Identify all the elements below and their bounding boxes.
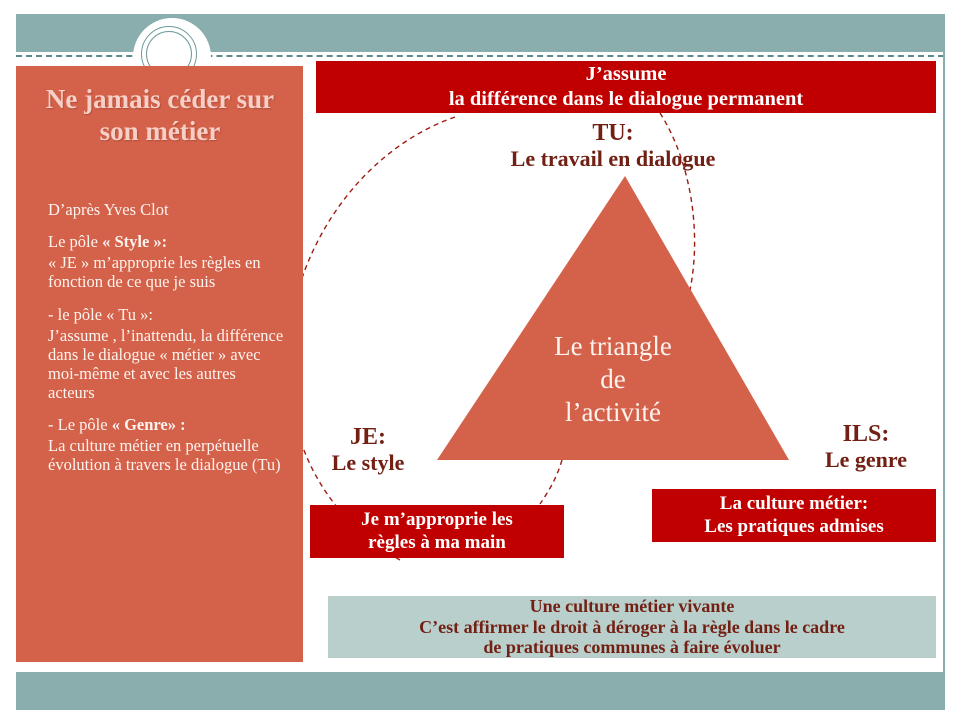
pole-style-heading-bold: « Style »: <box>102 232 167 251</box>
banner-assume-line2: la différence dans le dialogue permanent <box>449 87 803 112</box>
callout-ils-line1: La culture métier: <box>704 493 883 516</box>
callout-culture-line3: de pratiques communes à faire évoluer <box>419 637 845 658</box>
triangle-label-line3: l’activité <box>478 396 748 429</box>
pole-label-tu-title: TU: <box>478 121 748 147</box>
pole-label-tu-subtitle: Le travail en dialogue <box>478 147 748 171</box>
callout-ils-line2: Les pratiques admises <box>704 516 883 539</box>
banner-assume: J’assume la différence dans le dialogue … <box>316 61 936 113</box>
pole-label-ils: ILS: Le genre <box>796 422 936 472</box>
pole-genre-heading-plain: - Le pôle <box>48 415 112 434</box>
left-panel-body: D’après Yves Clot Le pôle « Style »: « J… <box>48 200 284 488</box>
pole-tu-heading: - le pôle « Tu »: <box>48 305 284 324</box>
callout-culture-line1: Une culture métier vivante <box>419 596 845 617</box>
right-vertical-rule <box>943 14 945 710</box>
pole-tu-body: J’assume , l’inattendu, la différence da… <box>48 326 284 403</box>
pole-label-tu: TU: Le travail en dialogue <box>478 121 748 171</box>
activity-triangle-label: Le triangle de l’activité <box>478 330 748 430</box>
callout-ils: La culture métier: Les pratiques admises <box>652 489 936 542</box>
footer-band <box>16 672 944 710</box>
pole-label-je-title: JE: <box>300 425 436 451</box>
pole-label-je: JE: Le style <box>300 425 436 475</box>
source-line: D’après Yves Clot <box>48 200 284 219</box>
pole-style-heading-plain: Le pôle <box>48 232 102 251</box>
pole-genre-heading: - Le pôle « Genre» : <box>48 415 284 434</box>
pole-genre-heading-bold: « Genre» : <box>112 415 186 434</box>
left-panel: Ne jamais céder sur son métier D’après Y… <box>16 66 303 662</box>
triangle-label-line1: Le triangle <box>478 330 748 363</box>
callout-je: Je m’approprie les règles à ma main <box>310 505 564 558</box>
pole-genre-body: La culture métier en perpétuelle évoluti… <box>48 436 284 474</box>
page-title: Ne jamais céder sur son métier <box>44 84 276 148</box>
pole-label-je-subtitle: Le style <box>300 451 436 475</box>
pole-label-ils-subtitle: Le genre <box>796 448 936 472</box>
banner-assume-line1: J’assume <box>449 62 803 87</box>
callout-culture-vivante: Une culture métier vivante C’est affirme… <box>328 596 936 658</box>
callout-je-line2: règles à ma main <box>361 532 513 555</box>
pole-style-heading: Le pôle « Style »: <box>48 232 284 251</box>
slide-canvas: Ne jamais céder sur son métier D’après Y… <box>0 0 960 720</box>
callout-je-line1: Je m’approprie les <box>361 509 513 532</box>
callout-culture-line2: C’est affirmer le droit à déroger à la r… <box>419 617 845 638</box>
pole-style-body: « JE » m’approprie les règles en fonctio… <box>48 253 284 291</box>
triangle-label-line2: de <box>478 363 748 396</box>
pole-label-ils-title: ILS: <box>796 422 936 448</box>
